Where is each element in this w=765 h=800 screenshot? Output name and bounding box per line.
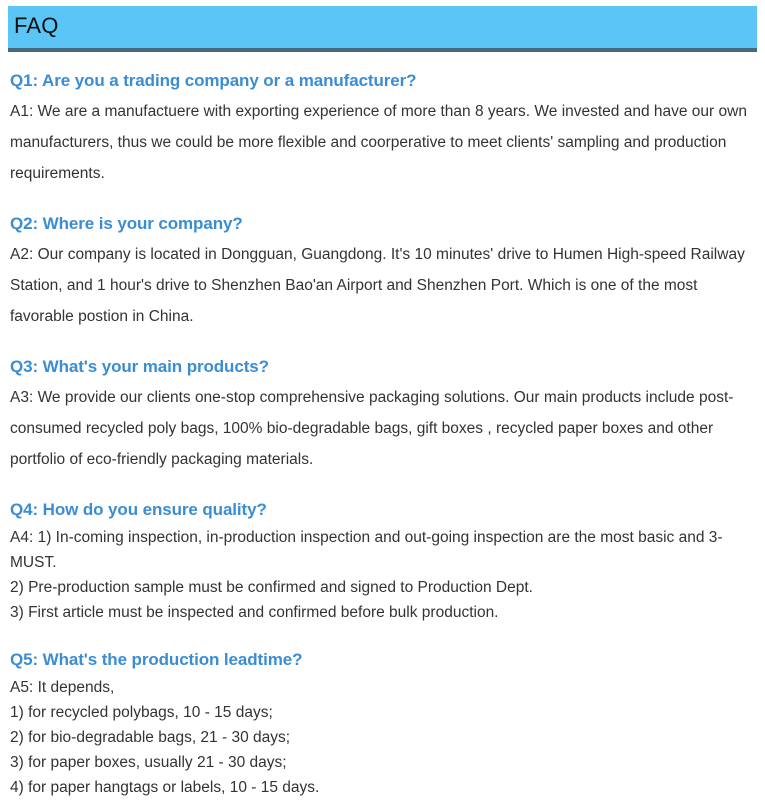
faq-list: Q1: Are you a trading company or a manuf… bbox=[10, 68, 755, 800]
faq-item: Q1: Are you a trading company or a manuf… bbox=[10, 68, 755, 189]
faq-answer-line: 2) for bio-degradable bags, 21 - 30 days… bbox=[10, 725, 755, 750]
faq-answer: A2: Our company is located in Dongguan, … bbox=[10, 239, 755, 332]
faq-answer-line: 4) for paper hangtags or labels, 10 - 15… bbox=[10, 775, 755, 800]
faq-item: Q4: How do you ensure quality? A4: 1) In… bbox=[10, 497, 755, 625]
faq-item: Q2: Where is your company? A2: Our compa… bbox=[10, 211, 755, 332]
faq-answer-line: 2) Pre-production sample must be confirm… bbox=[10, 575, 755, 600]
faq-item: Q3: What's your main products? A3: We pr… bbox=[10, 354, 755, 475]
faq-answer-line: 3) for paper boxes, usually 21 - 30 days… bbox=[10, 750, 755, 775]
faq-banner: FAQ bbox=[8, 6, 757, 52]
faq-answer-line: A5: It depends, bbox=[10, 675, 755, 700]
faq-answer: A4: 1) In-coming inspection, in-producti… bbox=[10, 525, 755, 625]
faq-question: Q5: What's the production leadtime? bbox=[10, 647, 755, 673]
faq-item: Q5: What's the production leadtime? A5: … bbox=[10, 647, 755, 800]
faq-answer: A5: It depends,1) for recycled polybags,… bbox=[10, 675, 755, 800]
faq-answer-line: A4: 1) In-coming inspection, in-producti… bbox=[10, 525, 755, 575]
faq-question: Q4: How do you ensure quality? bbox=[10, 497, 755, 523]
faq-question: Q1: Are you a trading company or a manuf… bbox=[10, 68, 755, 94]
faq-banner-title: FAQ bbox=[14, 12, 59, 40]
faq-answer: A1: We are a manufactuere with exporting… bbox=[10, 96, 755, 189]
faq-answer-line: 3) First article must be inspected and c… bbox=[10, 600, 755, 625]
faq-page: FAQ Q1: Are you a trading company or a m… bbox=[0, 0, 765, 748]
faq-question: Q3: What's your main products? bbox=[10, 354, 755, 380]
faq-answer-line: 1) for recycled polybags, 10 - 15 days; bbox=[10, 700, 755, 725]
faq-question: Q2: Where is your company? bbox=[10, 211, 755, 237]
faq-answer: A3: We provide our clients one-stop comp… bbox=[10, 382, 755, 475]
